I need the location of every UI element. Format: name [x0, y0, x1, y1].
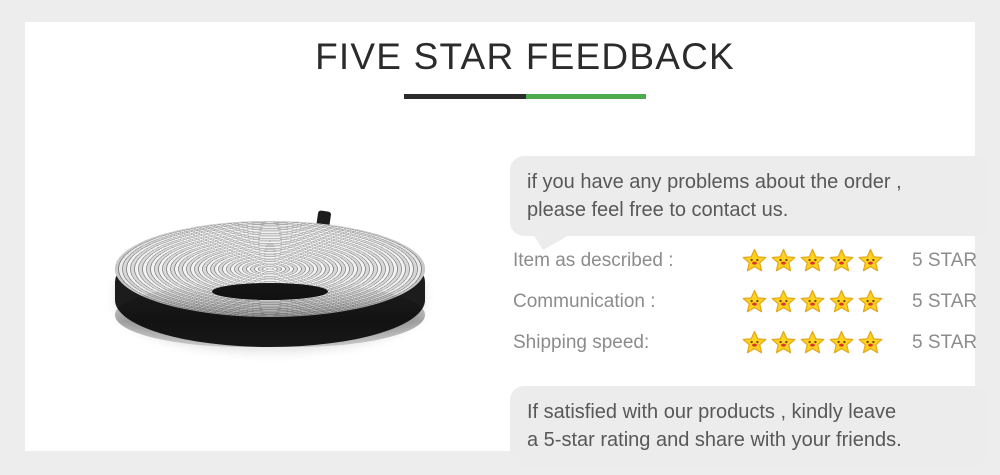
rating-request-line-2: a 5-star rating and share with your frie… [527, 426, 971, 454]
star-icon [858, 289, 883, 314]
ratings-list: Item as described : [510, 240, 1000, 363]
star-icon [742, 248, 767, 273]
star-icon [771, 248, 796, 273]
rating-label-communication: Communication : [510, 291, 742, 313]
belt-center-hole [212, 283, 328, 300]
product-image [85, 197, 455, 387]
star-icon [858, 330, 883, 355]
feedback-column: if you have any problems about the order… [508, 22, 1000, 475]
star-icon [800, 330, 825, 355]
rating-row: Shipping speed: [510, 322, 1000, 363]
rating-row: Item as described : [510, 240, 1000, 281]
rating-label-item-as-described: Item as described : [510, 250, 742, 272]
star-rating-communication [742, 289, 892, 314]
rating-label-shipping-speed: Shipping speed: [510, 332, 742, 354]
star-rating-shipping-speed [742, 330, 892, 355]
rating-value-item-as-described: 5 STAR [892, 250, 977, 272]
star-icon [800, 248, 825, 273]
rating-request-line-1: If satisfied with our products , kindly … [527, 398, 971, 426]
inner-card: FIVE STAR FEEDBACK if you have any probl… [25, 22, 975, 451]
belt-coil-face [115, 221, 425, 317]
star-icon [829, 289, 854, 314]
belt-coil-photo [85, 197, 455, 387]
rating-value-shipping-speed: 5 STAR [892, 332, 977, 354]
star-rating-item-as-described [742, 248, 892, 273]
rating-request-bubble: If satisfied with our products , kindly … [510, 386, 989, 466]
star-icon [829, 330, 854, 355]
rating-row: Communication : [510, 281, 1000, 322]
star-icon [771, 289, 796, 314]
star-icon [742, 289, 767, 314]
star-icon [742, 330, 767, 355]
contact-message-bubble: if you have any problems about the order… [510, 156, 989, 236]
star-icon [829, 248, 854, 273]
rating-value-communication: 5 STAR [892, 291, 977, 313]
contact-message-line-2: please feel free to contact us. [527, 196, 971, 224]
contact-message-line-1: if you have any problems about the order… [527, 168, 971, 196]
star-icon [800, 289, 825, 314]
feedback-banner: FIVE STAR FEEDBACK if you have any probl… [0, 0, 1000, 475]
star-icon [771, 330, 796, 355]
star-icon [858, 248, 883, 273]
